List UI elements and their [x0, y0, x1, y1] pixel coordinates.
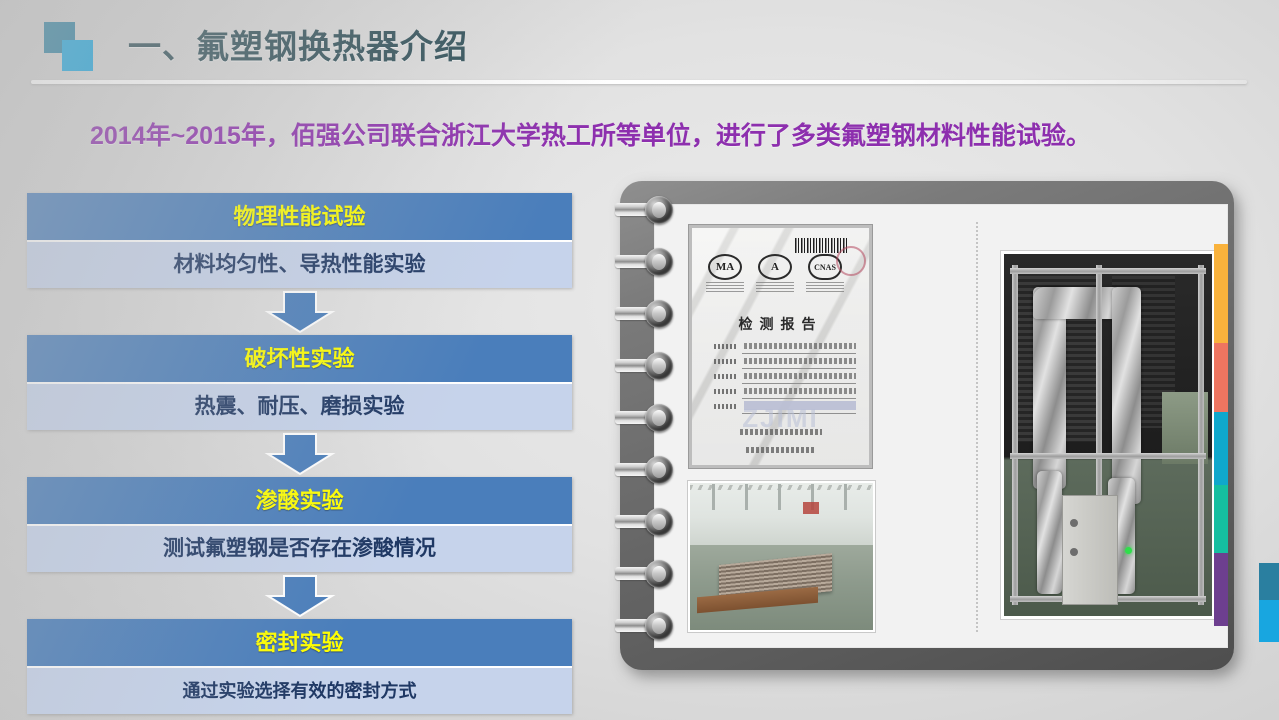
notebook-frame: MA A CNAS 检测报告: [620, 181, 1234, 670]
insulated-duct: [1112, 287, 1141, 504]
logo-square-light-icon: [62, 40, 93, 71]
spiral-binding: [615, 196, 675, 660]
test-rig-photo: [1001, 251, 1215, 619]
subtitle-text: 2014年~2015年，佰强公司联合浙江大学热工所等单位，进行了多类氟塑钢材料性…: [90, 116, 1200, 152]
ma-mark-icon: MA: [708, 254, 742, 280]
binding-ring: [615, 248, 673, 276]
warehouse-tube-bundle-photo: [688, 481, 875, 632]
flow-stage-2: 破坏性实验 热震、耐压、磨损实验: [27, 335, 572, 430]
report-field-row: [714, 340, 856, 355]
binding-ring: [615, 560, 673, 588]
color-band-amber: [1214, 244, 1228, 343]
insulated-duct: [1033, 287, 1125, 320]
binding-ring: [615, 612, 673, 640]
forklift-icon: [803, 502, 819, 514]
flow-stage-4: 密封实验 通过实验选择有效的密封方式: [27, 619, 572, 714]
color-band-cyan: [1214, 412, 1228, 485]
flow-stage-1-detail: 材料均匀性、导热性能实验: [27, 240, 572, 288]
edge-accent-light: [1259, 600, 1279, 642]
flow-arrow-1: [27, 288, 572, 335]
control-cabinet: [1062, 495, 1118, 606]
insulated-duct: [1037, 471, 1062, 594]
report-footer: [692, 424, 869, 460]
experiment-flow-chart: 物理性能试验 材料均匀性、导热性能实验 破坏性实验 热震、耐压、磨损实验 渗酸实…: [27, 193, 572, 714]
flow-stage-1-title: 物理性能试验: [27, 193, 572, 240]
flow-stage-4-title: 密封实验: [27, 619, 572, 666]
flow-arrow-3: [27, 572, 572, 619]
binding-ring: [615, 404, 673, 432]
flow-stage-1: 物理性能试验 材料均匀性、导热性能实验: [27, 193, 572, 288]
report-field-row: [714, 355, 856, 370]
report-paper: MA A CNAS 检测报告: [692, 228, 869, 465]
inspection-report-photo: MA A CNAS 检测报告: [688, 224, 873, 469]
flow-stage-3-title: 渗酸实验: [27, 477, 572, 524]
binding-ring: [615, 508, 673, 536]
warehouse-ceiling: [690, 483, 873, 545]
flow-stage-3-detail: 测试氟塑钢是否存在渗酸情况: [27, 524, 572, 572]
title-divider-rule: [31, 80, 1247, 84]
report-field-row: [714, 385, 856, 400]
arrow-down-icon: [264, 574, 336, 618]
page-title: 一、氟塑钢换热器介绍: [128, 20, 468, 68]
red-seal-icon: [836, 246, 866, 276]
binding-ring: [615, 456, 673, 484]
binding-ring: [615, 352, 673, 380]
binding-ring: [615, 196, 673, 224]
flow-stage-4-detail: 通过实验选择有效的密封方式: [27, 666, 572, 714]
flow-stage-2-detail: 热震、耐压、磨损实验: [27, 382, 572, 430]
slide-canvas: 一、氟塑钢换热器介绍 2014年~2015年，佰强公司联合浙江大学热工所等单位，…: [0, 0, 1279, 720]
edge-accent-dark: [1259, 563, 1279, 600]
page-divider-dotted: [976, 222, 978, 632]
arrow-down-icon: [264, 290, 336, 334]
notebook-page: MA A CNAS 检测报告: [654, 204, 1228, 648]
color-band-teal: [1214, 485, 1228, 554]
color-band-purple: [1214, 553, 1228, 626]
binding-ring: [615, 300, 673, 328]
report-title: 检测报告: [692, 314, 869, 334]
flow-arrow-2: [27, 430, 572, 477]
color-band-salmon: [1214, 343, 1228, 412]
a-mark-icon: A: [758, 254, 792, 280]
flow-stage-3: 渗酸实验 测试氟塑钢是否存在渗酸情况: [27, 477, 572, 572]
report-field-row: [714, 370, 856, 385]
flow-stage-2-title: 破坏性实验: [27, 335, 572, 382]
arrow-down-icon: [264, 432, 336, 476]
color-strip: [1214, 244, 1228, 626]
